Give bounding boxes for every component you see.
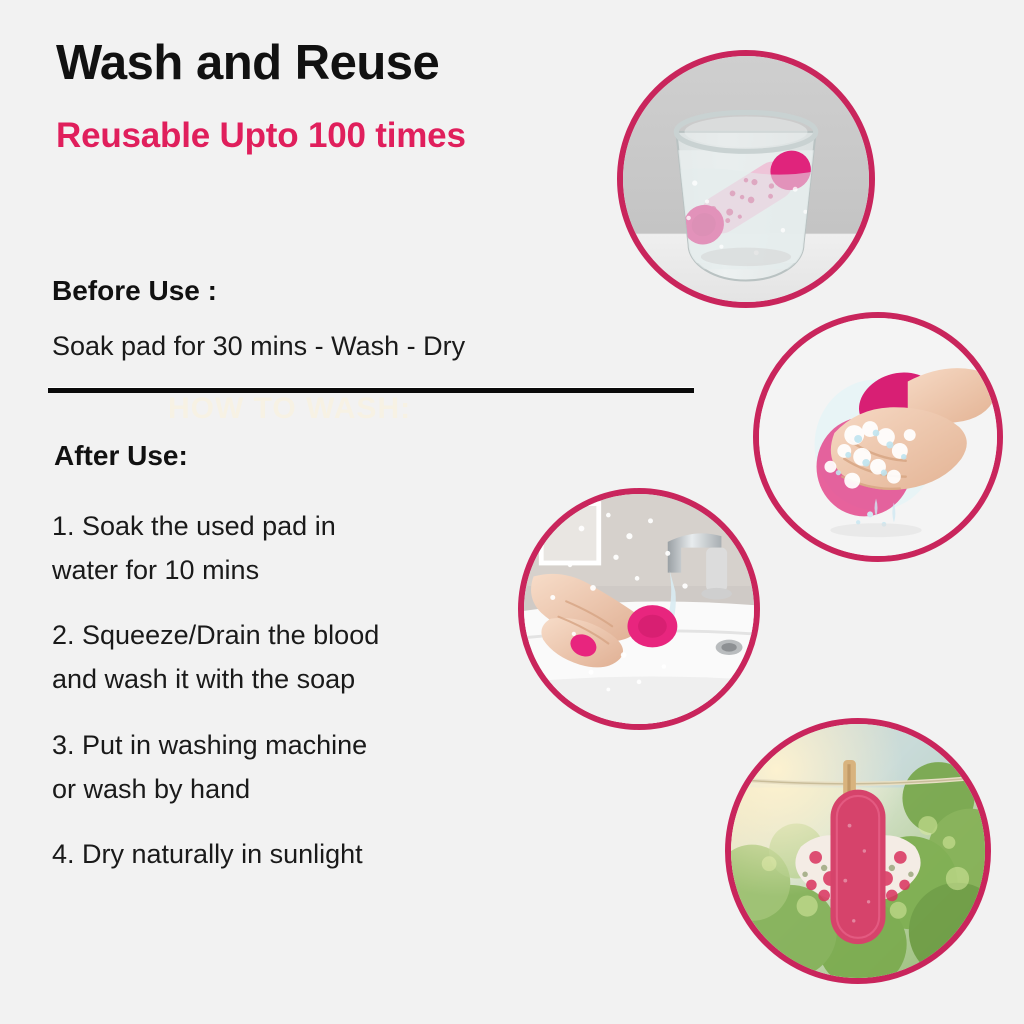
how-to-wash-watermark: HOW TO WASH:: [168, 392, 411, 426]
after-use-label: After Use:: [54, 440, 188, 472]
photo-pad-soaking-in-water-tub: [617, 50, 875, 308]
list-item: 1. Soak the used pad in water for 10 min…: [52, 505, 522, 592]
list-item: 3. Put in washing machine or wash by han…: [52, 724, 522, 811]
list-item: 2. Squeeze/Drain the blood and wash it w…: [52, 614, 522, 701]
after-use-steps: 1. Soak the used pad in water for 10 min…: [52, 505, 522, 877]
page-title: Wash and Reuse: [56, 38, 439, 89]
photo-hands-rinsing-pad-under-tap: [518, 488, 760, 730]
photo-hands-scrubbing-soapy-pad: [753, 312, 1003, 562]
list-item: 4. Dry naturally in sunlight: [52, 833, 522, 877]
page-subtitle: Reusable Upto 100 times: [56, 117, 466, 156]
photo-pad-drying-on-clothesline: [725, 718, 991, 984]
infographic-canvas: Wash and Reuse Reusable Upto 100 times B…: [0, 0, 1024, 1024]
before-use-text: Soak pad for 30 mins - Wash - Dry: [52, 331, 465, 362]
before-use-label: Before Use :: [52, 275, 217, 307]
